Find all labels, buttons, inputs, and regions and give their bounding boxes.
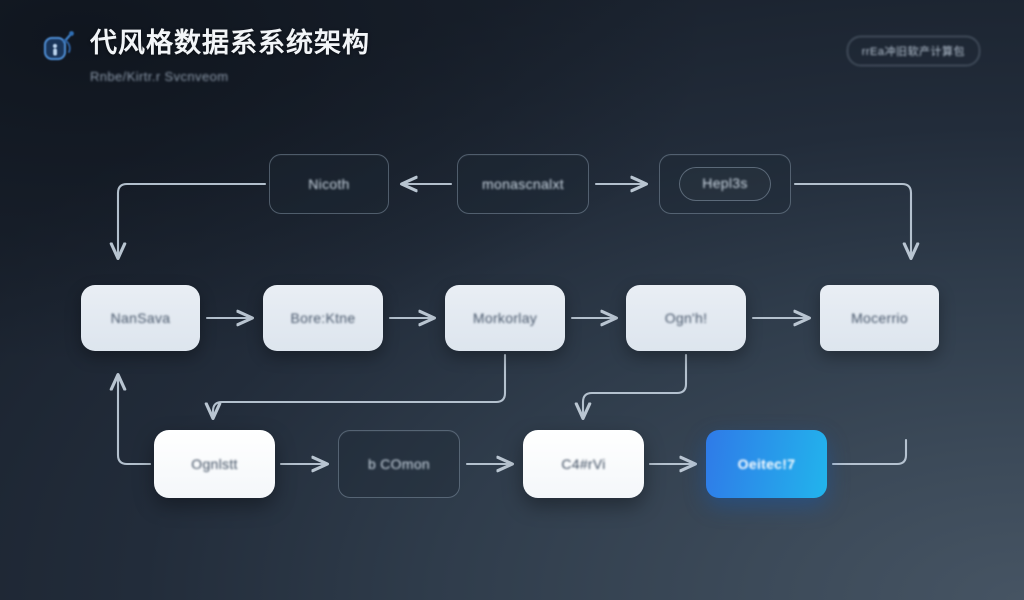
arrow-mid3-down-to-bot1-area [213, 355, 505, 418]
node-label: Bore:Ktne [291, 310, 356, 326]
node-mid-3[interactable]: Morkorlay [445, 285, 565, 351]
node-top-3[interactable]: Hepl3s [659, 154, 791, 214]
title-block: 代风格数据系系统架构 Rnbe/Kirtr.r Svcnveom [90, 24, 370, 84]
node-label: Morkorlay [473, 310, 537, 326]
arrow-mid4-down-to-bot3 [583, 355, 686, 418]
header: 代风格数据系系统架构 Rnbe/Kirtr.r Svcnveom [40, 24, 370, 84]
diagram-canvas: 代风格数据系系统架构 Rnbe/Kirtr.r Svcnveom rrEa冲旧软… [0, 0, 1024, 600]
node-label: NanSava [111, 310, 171, 326]
node-label: Nicoth [308, 176, 349, 192]
rounded-square-antenna-logo-icon [40, 28, 78, 66]
node-bot-4[interactable]: Oeitec!7 [706, 430, 827, 498]
page-subtitle: Rnbe/Kirtr.r Svcnveom [90, 69, 370, 84]
node-bot-3[interactable]: C4#rVi [523, 430, 644, 498]
arrow-bot4-right-up [833, 440, 906, 464]
node-label: Ognlstt [191, 456, 237, 472]
arrow-top3-to-mid5 [795, 184, 911, 258]
node-label: monascnalxt [482, 176, 564, 192]
node-mid-5[interactable]: Mocerrio [820, 285, 939, 351]
node-inner-pill: Hepl3s [679, 167, 770, 201]
arrow-top1-to-mid1 [118, 184, 265, 258]
node-mid-1[interactable]: NanSava [81, 285, 200, 351]
node-label: C4#rVi [561, 456, 605, 472]
node-label: Mocerrio [851, 310, 908, 326]
node-bot-1[interactable]: Ognlstt [154, 430, 275, 498]
node-label: Hepl3s [702, 175, 747, 191]
header-badge[interactable]: rrEa冲旧软产计算包 [847, 36, 980, 66]
node-top-1[interactable]: Nicoth [269, 154, 389, 214]
arrow-bot1-up-to-mid1 [118, 375, 150, 464]
node-mid-2[interactable]: Bore:Ktne [263, 285, 383, 351]
node-bot-2[interactable]: b COmon [338, 430, 460, 498]
node-label: Oeitec!7 [738, 456, 796, 472]
node-label: b COmon [368, 456, 430, 472]
node-label: Ogn'h! [665, 310, 708, 326]
node-mid-4[interactable]: Ogn'h! [626, 285, 746, 351]
node-top-2[interactable]: monascnalxt [457, 154, 589, 214]
page-title: 代风格数据系系统架构 [90, 26, 370, 60]
